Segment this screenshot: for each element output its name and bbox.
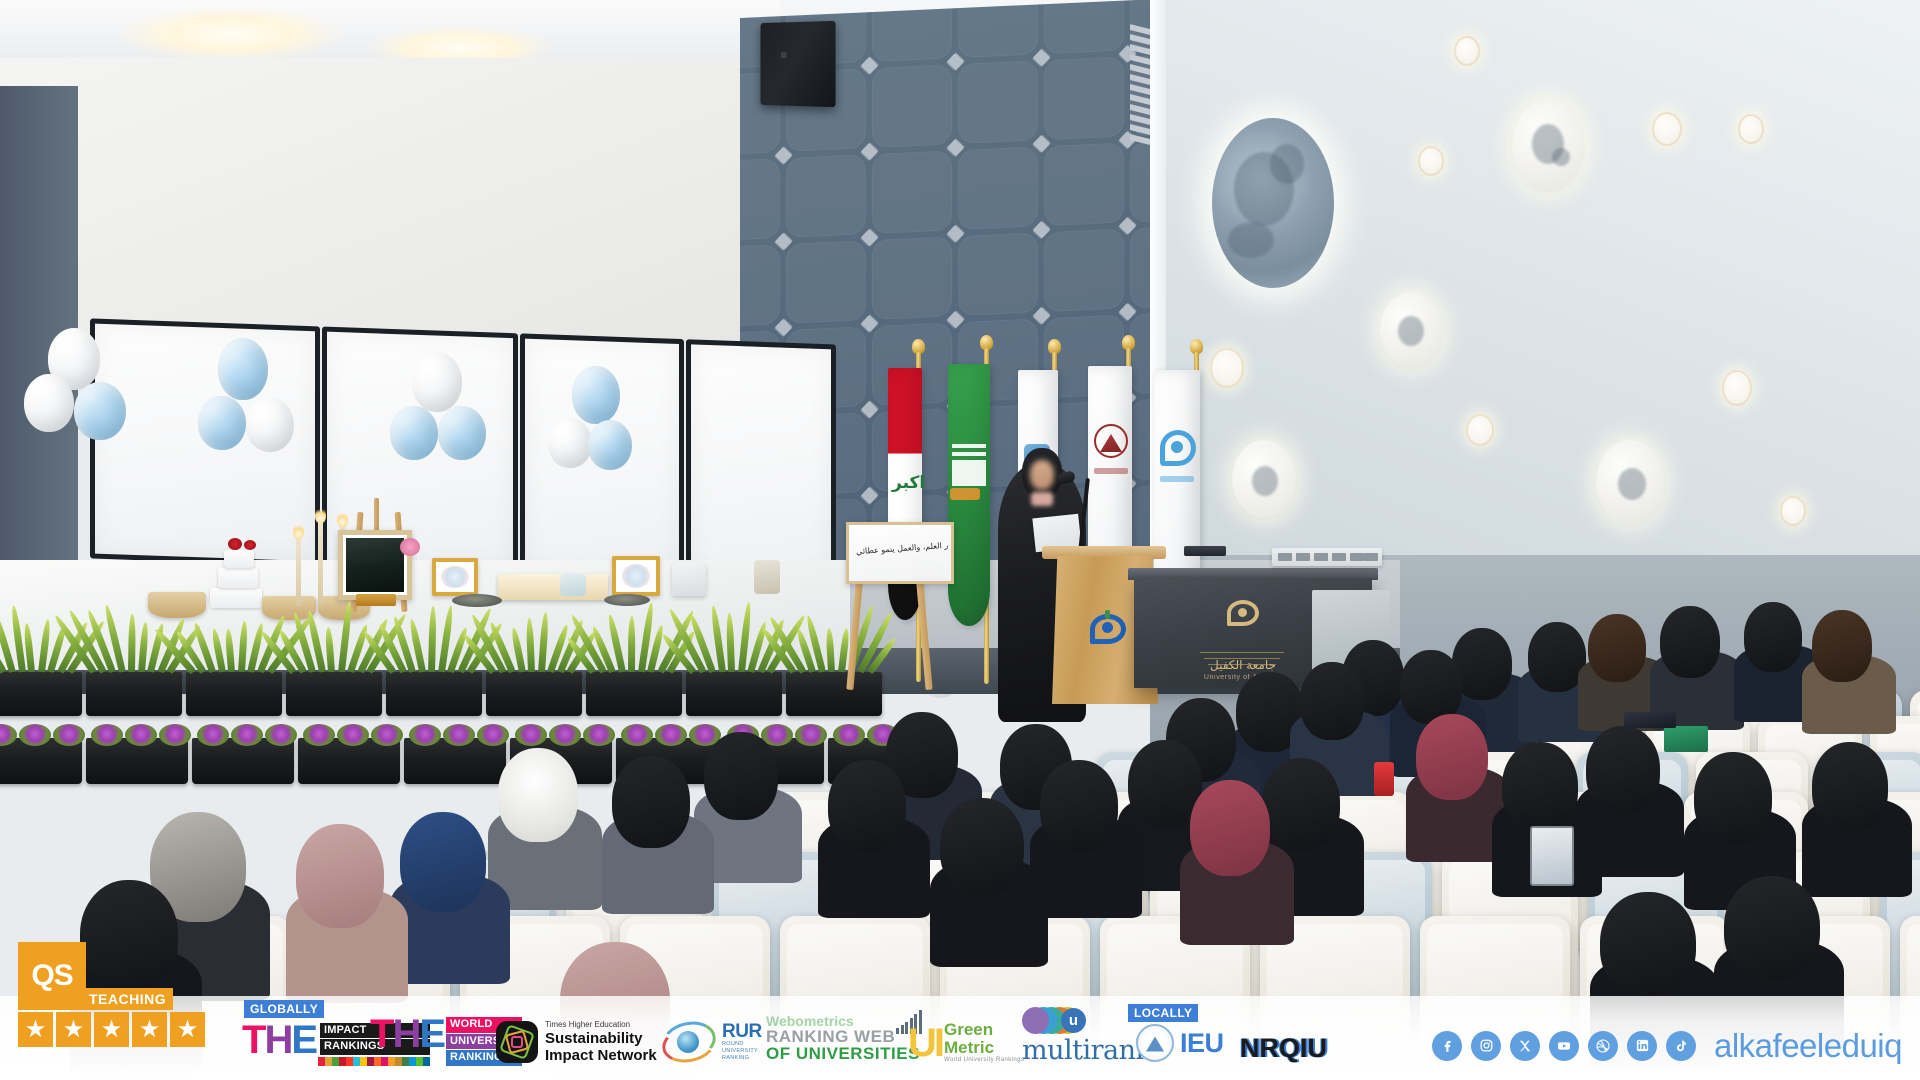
qs-stars-rating-logo: QS TEACHING ★★★★★ (18, 976, 218, 1072)
green-folder (1664, 726, 1708, 752)
frame-motif (441, 566, 468, 588)
audience-member-head (1416, 714, 1488, 800)
ornamental-kale (477, 724, 509, 746)
multirank-wordmark: multirank (1022, 1037, 1151, 1064)
social-links[interactable]: alkafeeleduiq (1432, 1029, 1902, 1062)
audience-member-head (1600, 892, 1696, 996)
ieu-wordmark: IEU (1180, 1030, 1224, 1057)
uigm-title-2: Metric (944, 1039, 1024, 1057)
qs-logo-mark: QS (18, 942, 86, 1010)
audience-member-head (1040, 760, 1118, 852)
tiktok-icon[interactable] (1666, 1031, 1696, 1061)
webometrics-line-bottom: OF UNIVERSITIES (766, 1045, 920, 1062)
sin-hexagon-icon (496, 1021, 538, 1063)
the-wordmark: THE (242, 1023, 316, 1057)
planter-box (586, 672, 682, 716)
candle-2 (318, 520, 323, 604)
sin-eyebrow: Times Higher Education (545, 1021, 657, 1030)
soda-can (1374, 762, 1394, 796)
wall-vent-grille (1272, 548, 1382, 566)
qs-star: ★ (56, 1012, 91, 1047)
gift-wrap-bundle (672, 562, 706, 596)
ornamental-kale (621, 724, 653, 746)
moon-artwork-3 (1380, 292, 1442, 368)
ornamental-kale (265, 724, 297, 746)
planter-box (0, 672, 82, 716)
audience-member-head (704, 732, 778, 820)
audience-member-head (828, 760, 906, 852)
ornamental-kale (19, 724, 51, 746)
audience-member-head (1586, 726, 1660, 814)
multirank-dots-icon: u (1022, 1007, 1086, 1037)
ornamental-kale (583, 724, 615, 746)
ceiling-light-1 (120, 6, 340, 62)
moon-artwork-large (1212, 118, 1334, 288)
moon-artwork-small-7 (1454, 36, 1480, 66)
decor-object-1 (560, 574, 586, 596)
moon-artwork-5 (1596, 440, 1664, 524)
framed-certificate-1 (432, 558, 478, 596)
gift-basket-1 (148, 592, 206, 618)
ieu-logo: IEU (1136, 1024, 1224, 1062)
desk-logo-arabic: جامعة الكفيل (1188, 658, 1298, 672)
dessert-tray-1 (452, 594, 502, 607)
qs-star: ★ (18, 1012, 53, 1047)
rur-acronym: RUR (722, 1022, 762, 1041)
audience-member-head (1300, 662, 1364, 740)
ornamental-kale (125, 724, 157, 746)
social-handle: alkafeeleduiq (1714, 1029, 1902, 1062)
audience-member-head (1588, 614, 1646, 682)
moon-artwork-small-6 (1780, 496, 1806, 526)
desk-university-logo: جامعة الكفيل University of Alkafeel (1188, 600, 1298, 681)
audience-member-head (1190, 780, 1270, 876)
frame-motif (622, 564, 651, 587)
qs-star: ★ (94, 1012, 129, 1047)
qs-star: ★ (132, 1012, 167, 1047)
instagram-icon[interactable] (1471, 1031, 1501, 1061)
ornamental-kale (795, 724, 827, 746)
podium-emblem (1086, 608, 1130, 648)
auditorium-photo: اكبر (0, 0, 1920, 1080)
desk-accent-line-3 (1208, 664, 1276, 665)
rur-eye-icon (660, 1022, 718, 1062)
locally-label: LOCALLY (1128, 1004, 1198, 1022)
framed-certificate-2 (612, 556, 660, 596)
whiteboard-panel-4 (686, 339, 836, 584)
audience-member-head (1502, 742, 1578, 832)
notebook (1624, 712, 1676, 728)
decor-object-2 (754, 560, 780, 594)
facebook-icon[interactable] (1432, 1031, 1462, 1061)
audience-member-head (498, 748, 578, 842)
uigm-caption: World University Rankings (944, 1057, 1024, 1064)
planter-box (786, 672, 882, 716)
ornamental-kale (53, 724, 85, 746)
audience-member-head (612, 756, 690, 848)
planter-box (186, 672, 282, 716)
sheet-cake (498, 574, 608, 600)
ornamental-kale (337, 724, 369, 746)
rur-sub-2: UNIVERSITY (722, 1048, 762, 1055)
planter-box (386, 672, 482, 716)
sustainability-impact-network-logo: Times Higher Education Sustainability Im… (496, 1021, 657, 1064)
uigm-mark: UI (908, 1023, 942, 1063)
ornamental-kale (515, 724, 547, 746)
dessert-tray-2 (604, 594, 650, 606)
qs-star: ★ (170, 1012, 205, 1047)
date-box (356, 594, 396, 606)
moon-artwork-small-2 (1210, 348, 1244, 388)
planter-box (486, 672, 582, 716)
audience-member-head (296, 824, 384, 928)
audience-member-head (1694, 752, 1772, 844)
audience-member-head (400, 812, 486, 912)
moon-artwork-small-5 (1722, 370, 1752, 406)
qs-category-label: TEACHING (82, 988, 173, 1010)
qs-star-row: ★★★★★ (18, 1012, 205, 1047)
ornamental-kale (197, 724, 229, 746)
ui-greenmetric-logo: UI Green Metric World University Ranking… (908, 1021, 1024, 1064)
ornamental-kale (833, 724, 865, 746)
audience-member-head (1724, 876, 1820, 980)
audience-member-head (1262, 758, 1340, 850)
rur-sub-1: ROUND (722, 1041, 762, 1048)
ornamental-kale (303, 724, 335, 746)
planter-box (286, 672, 382, 716)
globally-label: GLOBALLY (244, 1000, 324, 1018)
dribbble-icon[interactable] (1588, 1031, 1618, 1061)
moon-artwork-small-1 (1418, 146, 1444, 176)
multirank-u-badge: u (1061, 1008, 1086, 1033)
moon-artwork-4 (1232, 440, 1296, 518)
youtube-icon[interactable] (1549, 1031, 1579, 1061)
planter-box (86, 672, 182, 716)
room-background: اكبر (0, 0, 1920, 1080)
ornamental-kale (371, 724, 403, 746)
moon-artwork-small-8 (1738, 114, 1764, 144)
desk-microphone (1184, 546, 1226, 556)
audience-member-head (1812, 610, 1872, 682)
nrqiu-logo: NRQIU (1240, 1035, 1327, 1062)
sin-title-2: Impact Network (545, 1047, 657, 1064)
audience-member-head (1744, 602, 1802, 672)
moon-artwork-2 (1512, 100, 1584, 192)
moon-artwork-small-3 (1466, 414, 1494, 446)
uigm-title-1: Green (944, 1021, 1024, 1039)
linkedin-icon[interactable] (1627, 1031, 1657, 1061)
footer-banner: QS TEACHING ★★★★★ GLOBALLY THE IMPACT RA… (0, 996, 1920, 1080)
audience-member-head (1812, 742, 1888, 832)
sin-title-1: Sustainability (545, 1030, 657, 1047)
planter-box (686, 672, 782, 716)
audience-member-head (1400, 650, 1462, 724)
ornamental-kale (549, 724, 581, 746)
rur-logo: RUR ROUND UNIVERSITY RANKING (660, 1022, 762, 1062)
ornamental-kale (409, 724, 441, 746)
left-upper-wall (0, 58, 760, 358)
webometrics-logo: Webometrics RANKING WEB OF UNIVERSITIES (766, 1014, 920, 1062)
ceiling-speaker (760, 21, 835, 107)
audience-member-head (940, 798, 1024, 896)
ornamental-kale (231, 724, 263, 746)
desk-accent-line-1 (1200, 652, 1284, 653)
tablet-screen (1530, 826, 1574, 886)
ornamental-kale (91, 724, 123, 746)
nrqiu-wordmark: NRQIU (1240, 1035, 1327, 1062)
ieu-seal-icon (1136, 1024, 1174, 1062)
qs-wordmark: QS (31, 961, 72, 991)
the-wordmark: THE (370, 1017, 444, 1051)
ornamental-kale (159, 724, 191, 746)
ornamental-kale (655, 724, 687, 746)
audience-member-head (1660, 606, 1720, 678)
moon-artwork-small-4 (1652, 112, 1682, 146)
ornamental-kale (443, 724, 475, 746)
desk-accent-line-2 (1204, 658, 1280, 659)
x-twitter-icon[interactable] (1510, 1031, 1540, 1061)
rur-sub-3: RANKING (722, 1055, 762, 1062)
candle-1 (296, 536, 301, 606)
